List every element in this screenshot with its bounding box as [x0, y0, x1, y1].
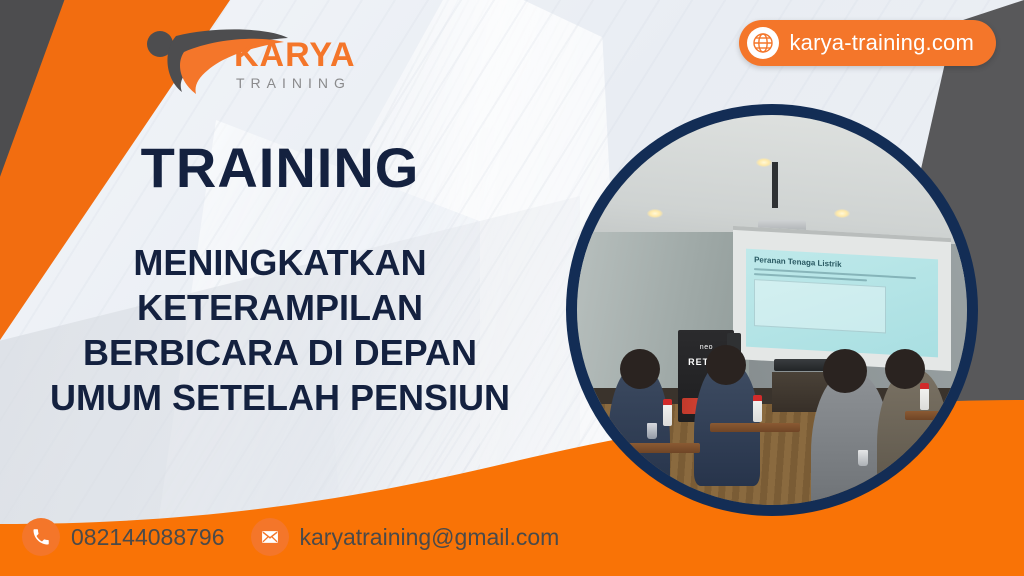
eyebrow-title: TRAINING	[0, 140, 560, 196]
title-line-1: MENINGKATKAN	[14, 240, 546, 285]
website-url-text: karya-training.com	[789, 30, 974, 56]
contact-phone[interactable]: 082144088796	[22, 518, 225, 556]
water-bottle	[920, 388, 929, 410]
projector-mount	[772, 162, 778, 208]
attendee-desk	[600, 443, 700, 453]
attendee-desk	[905, 411, 967, 420]
main-title: MENINGKATKAN KETERAMPILAN BERBICARA DI D…	[0, 240, 560, 420]
water-bottle	[753, 400, 762, 422]
slide-table	[754, 279, 886, 333]
drinking-glass	[858, 450, 868, 466]
slide-content: Peranan Tenaga Listrik	[746, 249, 938, 358]
water-bottle	[940, 423, 949, 445]
contact-bar: 082144088796 karyatraining@gmail.com	[22, 518, 559, 556]
headline-block: TRAINING MENINGKATKAN KETERAMPILAN BERBI…	[0, 140, 560, 420]
phone-icon	[22, 518, 60, 556]
attendee-head	[706, 345, 746, 385]
website-badge[interactable]: karya-training.com	[739, 20, 996, 66]
photo-circle-frame: Peranan Tenaga Listrik neo RETRO	[566, 104, 978, 516]
logo-artwork: KARYA TRAINING	[138, 22, 378, 102]
logo-wordmark: KARYA	[234, 36, 356, 74]
drinking-glass	[647, 423, 657, 439]
contact-email[interactable]: karyatraining@gmail.com	[251, 518, 560, 556]
attendee-head	[620, 349, 660, 389]
title-line-4: UMUM SETELAH PENSIUN	[14, 375, 546, 420]
email-address: karyatraining@gmail.com	[300, 524, 560, 551]
attendee-desk	[710, 423, 800, 432]
standee-brand: neo	[700, 344, 713, 351]
phone-number: 082144088796	[71, 524, 225, 551]
karya-training-logo: KARYA TRAINING	[138, 22, 378, 102]
envelope-icon	[251, 518, 289, 556]
attendee-head	[885, 349, 925, 389]
title-line-3: BERBICARA DI DEPAN	[14, 330, 546, 375]
water-bottle	[663, 404, 672, 426]
training-promo-banner: KARYA TRAINING karya-training.com TRAINI…	[0, 0, 1024, 576]
training-room-photo: Peranan Tenaga Listrik neo RETRO	[577, 115, 967, 505]
title-line-2: KETERAMPILAN	[14, 285, 546, 330]
logo-tagline: TRAINING	[236, 75, 351, 91]
ceiling-light	[834, 209, 850, 218]
ceiling-light	[647, 209, 663, 218]
globe-icon	[747, 27, 779, 59]
attendee-head	[823, 349, 867, 393]
